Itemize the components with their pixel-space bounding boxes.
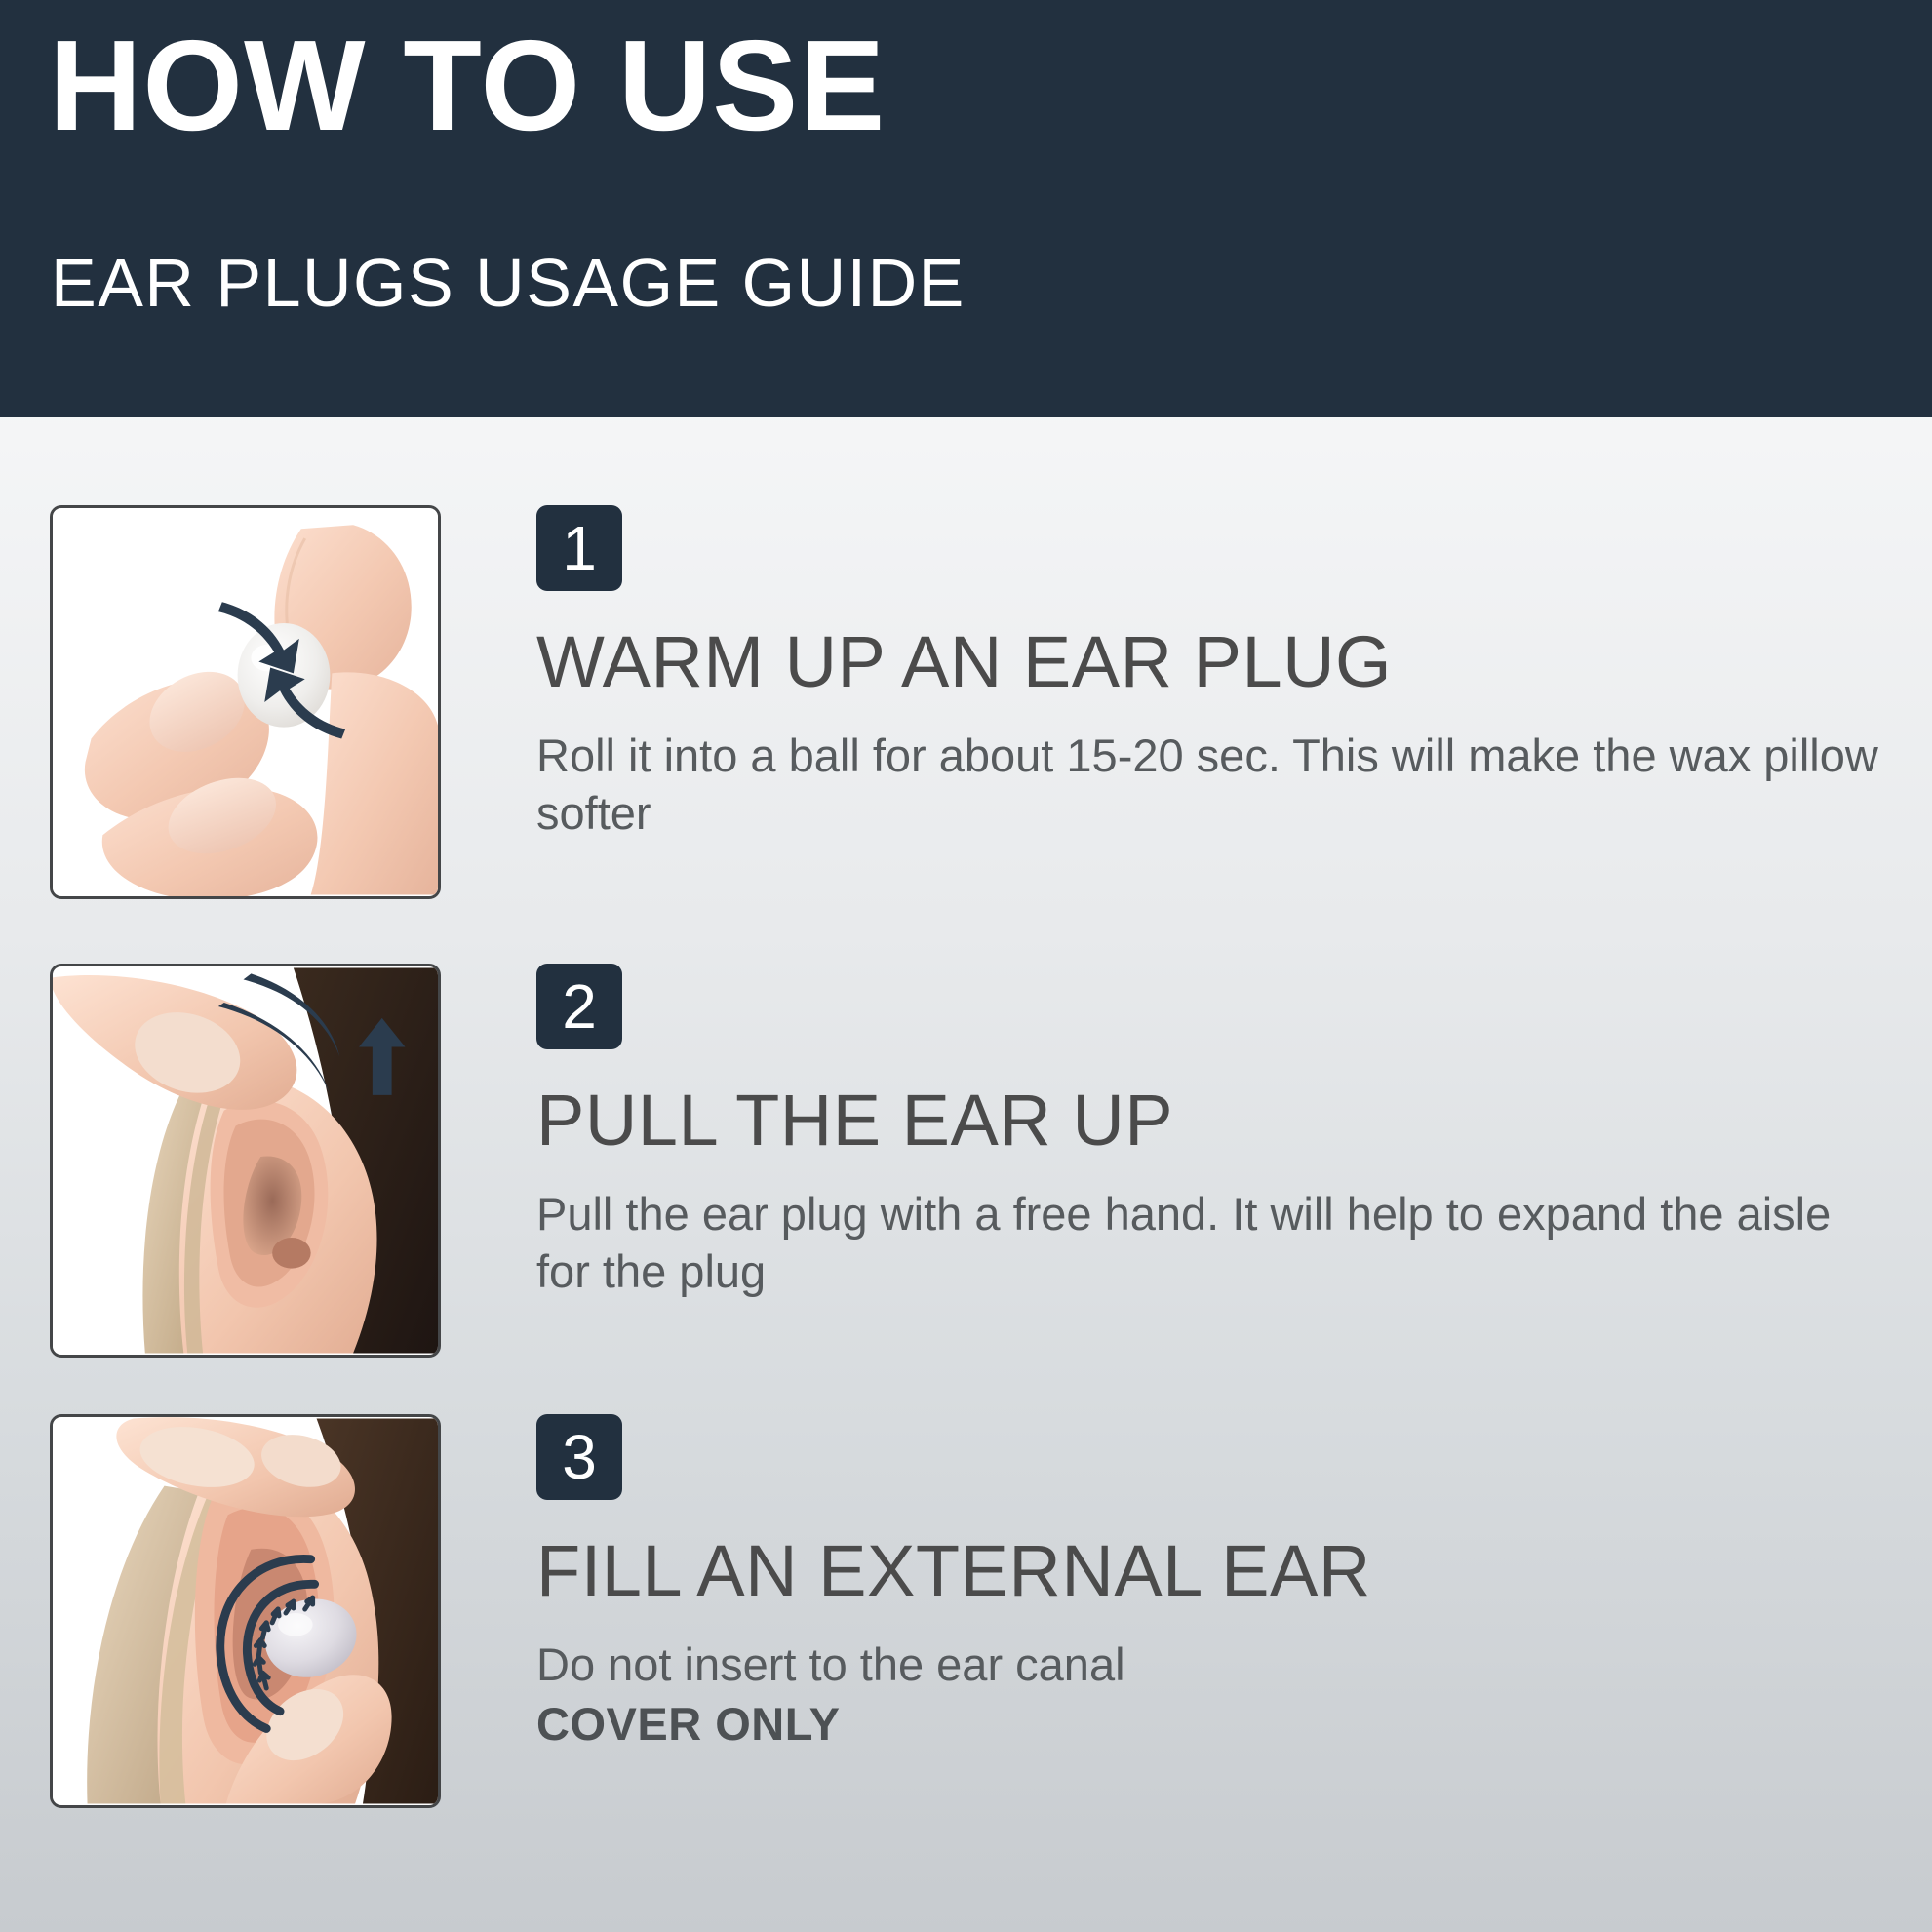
step-heading: PULL THE EAR UP [536,1084,1902,1157]
page-title: HOW TO USE [49,21,886,150]
header-banner: HOW TO USE EAR PLUGS USAGE GUIDE [0,0,1932,417]
thumb-pulling-ear-up-photo [53,966,438,1355]
step-text-block: 3 FILL AN EXTERNAL EAR Do not insert to … [536,1414,1902,1754]
step-description: Do not insert to the ear canal [536,1636,1882,1694]
step-photo-frame [50,505,441,899]
fingers-rolling-ear-plug-photo [53,508,438,896]
step-text-block: 2 PULL THE EAR UP Pull the ear plug with… [536,964,1902,1301]
finger-pressing-plug-into-outer-ear-photo [53,1417,438,1805]
step-text-block: 1 WARM UP AN EAR PLUG Roll it into a bal… [536,505,1902,843]
step-number-badge: 1 [536,505,622,591]
infographic-page: HOW TO USE EAR PLUGS USAGE GUIDE [0,0,1932,1932]
step-description: Pull the ear plug with a free hand. It w… [536,1186,1882,1301]
step-number-badge: 2 [536,964,622,1049]
step-heading: FILL AN EXTERNAL EAR [536,1535,1902,1607]
step-photo-frame [50,964,441,1358]
step-note: COVER ONLY [536,1696,1902,1754]
step-photo-frame [50,1414,441,1808]
step-heading: WARM UP AN EAR PLUG [536,626,1902,698]
step-number-badge: 3 [536,1414,622,1500]
page-subtitle: EAR PLUGS USAGE GUIDE [51,249,966,317]
step-description: Roll it into a ball for about 15-20 sec.… [536,728,1882,843]
